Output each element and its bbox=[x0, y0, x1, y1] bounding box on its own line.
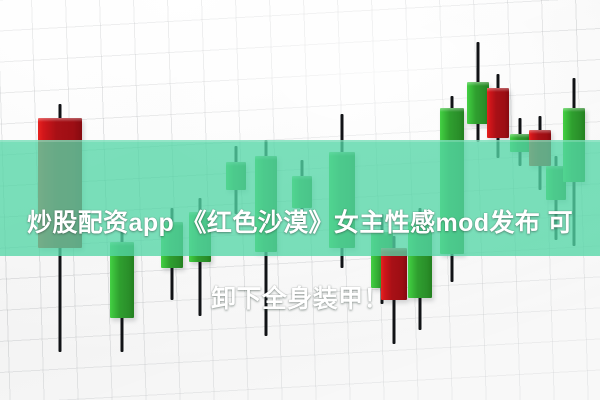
band-top-highlight bbox=[0, 140, 600, 142]
candle-body-up bbox=[467, 82, 489, 124]
headline-line-1: 炒股配资app 《红色沙漠》女主性感mod发布 可 bbox=[0, 204, 600, 242]
headline-line-2: 卸下全身装甲！ bbox=[0, 280, 600, 318]
headline-text: 炒股配资app 《红色沙漠》女主性感mod发布 可 卸下全身装甲！ bbox=[0, 166, 600, 356]
candle-body-down bbox=[487, 88, 509, 138]
candle bbox=[467, 42, 489, 142]
candlestick-banner: 炒股配资app 《红色沙漠》女主性感mod发布 可 卸下全身装甲！ bbox=[0, 0, 600, 400]
